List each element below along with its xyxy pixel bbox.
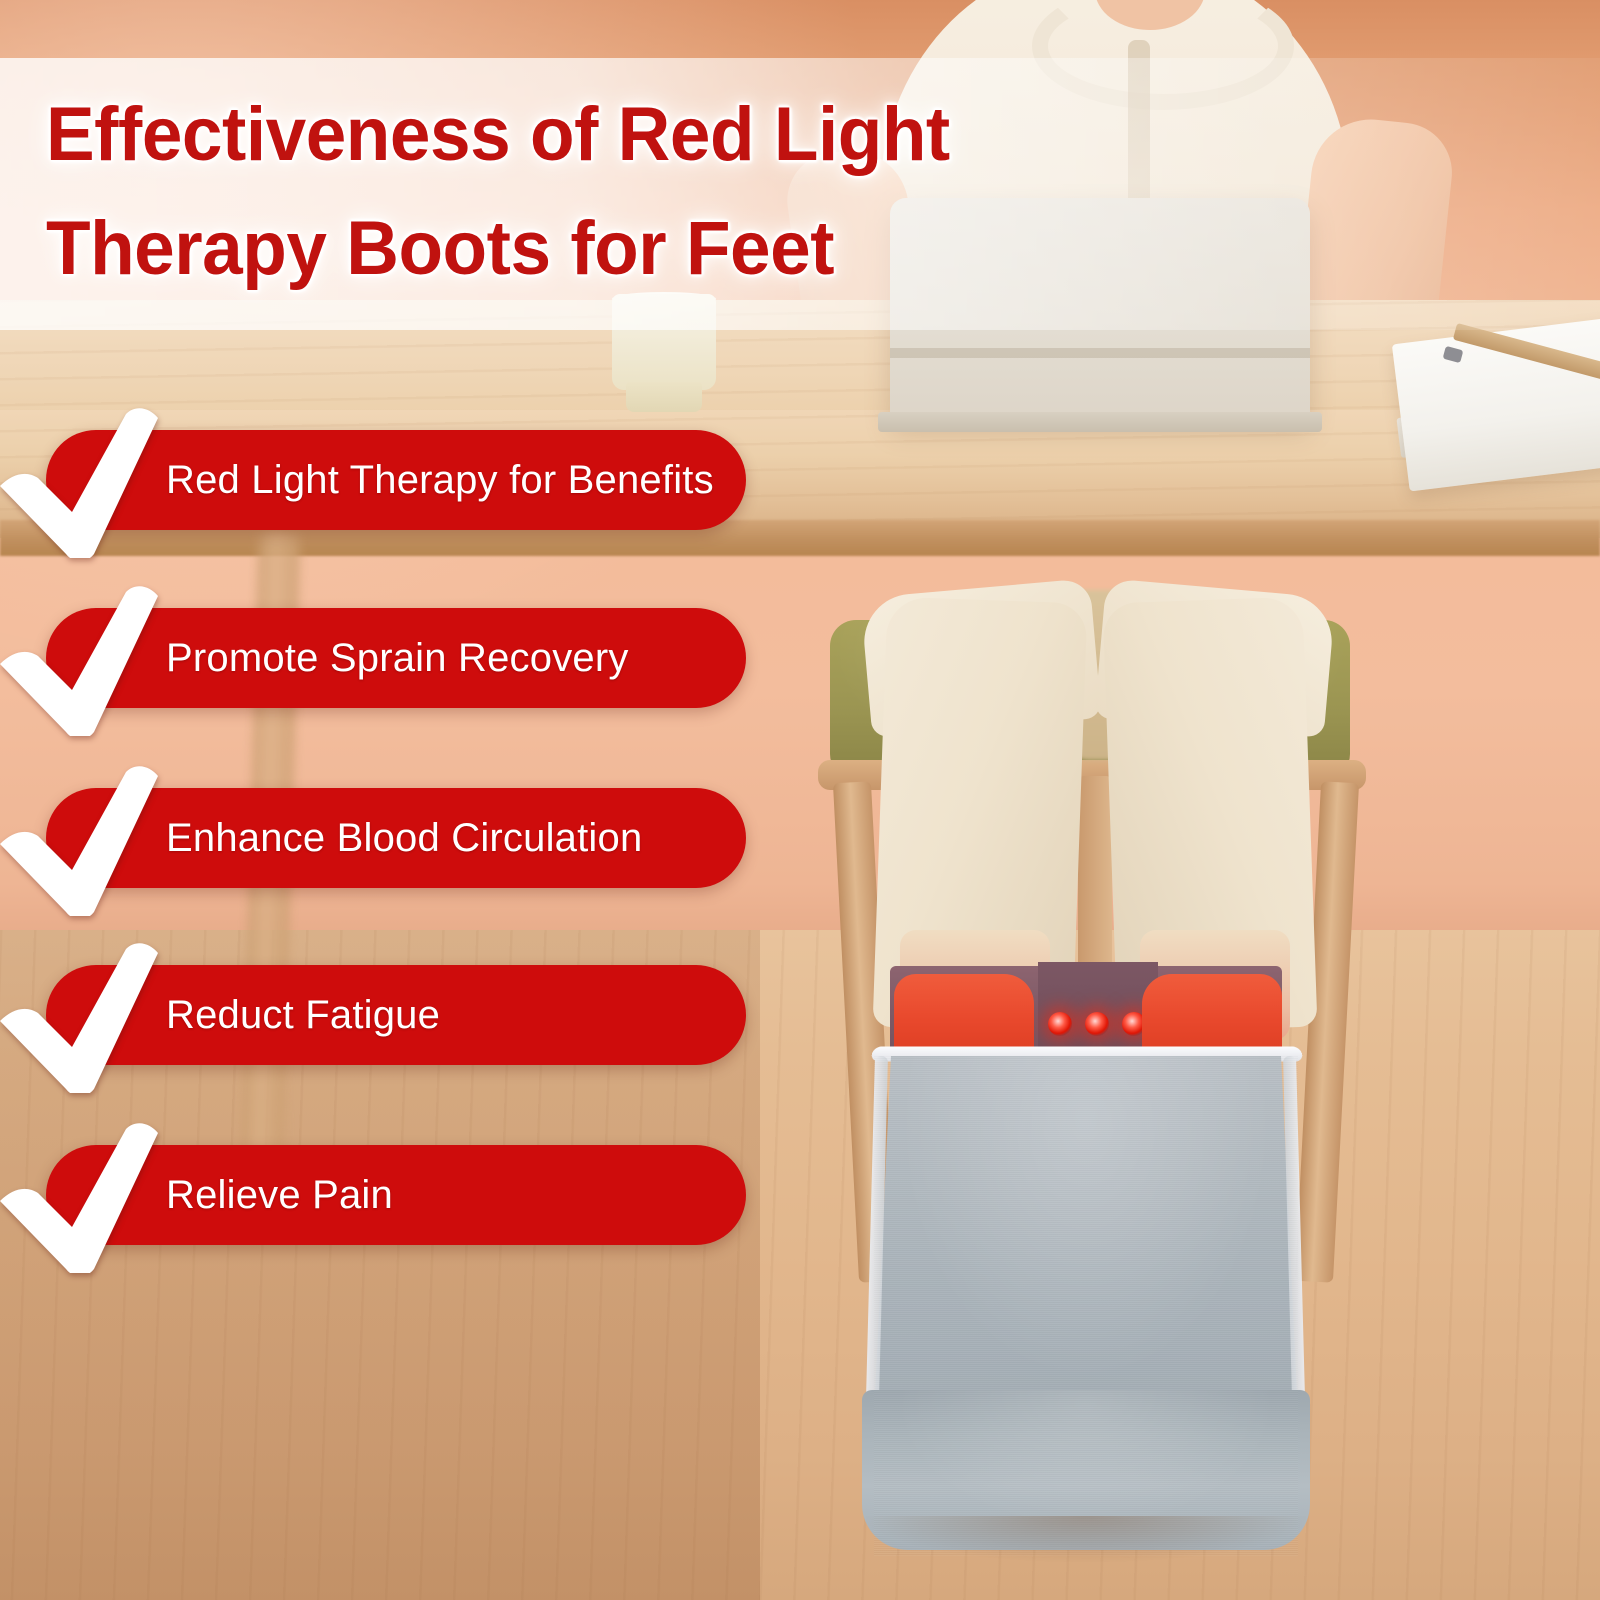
feature-item-3[interactable]: Enhance Blood Circulation — [46, 788, 746, 888]
feature-list: Red Light Therapy for Benefits Promote S… — [0, 0, 760, 1600]
boot-ground-shadow — [866, 1516, 1306, 1562]
feature-label-3: Enhance Blood Circulation — [166, 788, 642, 888]
boot-led-panel — [1038, 962, 1158, 1058]
feature-label-2: Promote Sprain Recovery — [166, 608, 629, 708]
product-infographic: Effectiveness of Red Light Therapy Boots… — [0, 0, 1600, 1600]
feature-item-2[interactable]: Promote Sprain Recovery — [46, 608, 746, 708]
feature-item-1[interactable]: Red Light Therapy for Benefits — [46, 430, 746, 530]
red-led-2 — [1085, 1012, 1109, 1036]
feature-pill-5[interactable] — [46, 1145, 746, 1245]
laptop-hinge — [890, 348, 1310, 358]
feature-item-4[interactable]: Reduct Fatigue — [46, 965, 746, 1065]
feature-item-5[interactable]: Relieve Pain — [46, 1145, 746, 1245]
feature-label-5: Relieve Pain — [166, 1145, 393, 1245]
boot-front-panel — [874, 1056, 1298, 1416]
red-led-1 — [1048, 1012, 1072, 1036]
foot-warmer-boot — [852, 960, 1320, 1560]
laptop-base — [878, 412, 1322, 432]
feature-label-4: Reduct Fatigue — [166, 965, 440, 1065]
feature-label-1: Red Light Therapy for Benefits — [166, 430, 714, 530]
